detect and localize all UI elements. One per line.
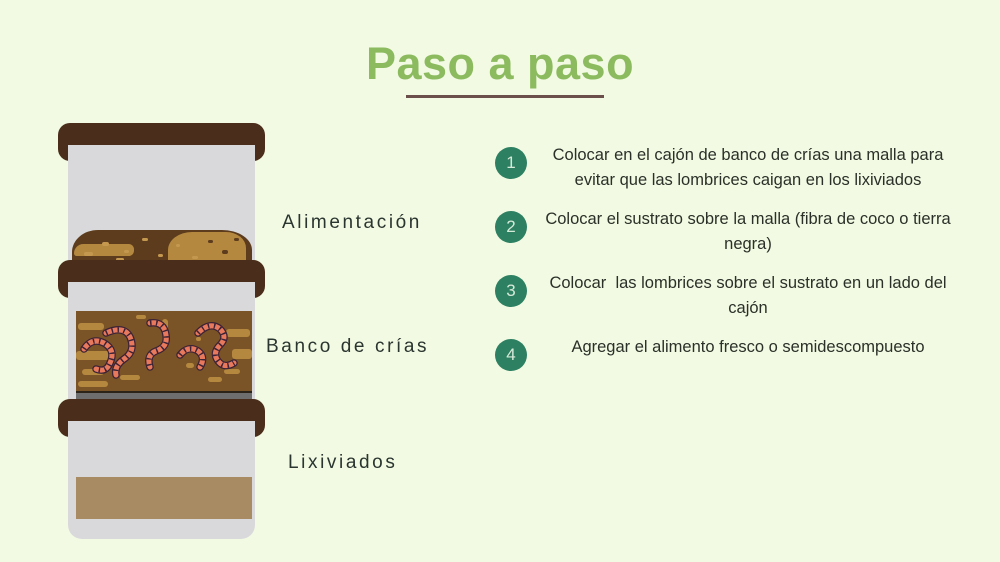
step-number-badge: 1 — [495, 147, 527, 179]
layer-label-lixiviados: Lixiviados — [288, 452, 397, 474]
step-text: Agregar el alimento fresco o semidescomp… — [541, 335, 955, 360]
step-item: 2 Colocar el sustrato sobre la malla (fi… — [495, 207, 955, 257]
steps-list: 1 Colocar en el cajón de banco de crías … — [495, 143, 955, 385]
page-title: Paso a paso — [0, 38, 1000, 90]
step-text: Colocar el sustrato sobre la malla (fibr… — [541, 207, 955, 257]
step-number-badge: 2 — [495, 211, 527, 243]
infographic-canvas: Paso a paso — [0, 0, 1000, 562]
step-item: 4 Agregar el alimento fresco o semidesco… — [495, 335, 955, 371]
layer-label-banco-de-crias: Banco de crías — [266, 336, 429, 358]
step-number-badge: 4 — [495, 339, 527, 371]
layer-label-alimentacion: Alimentación — [282, 212, 422, 234]
step-text: Colocar en el cajón de banco de crías un… — [541, 143, 955, 193]
leachate-liquid — [76, 477, 252, 519]
title-underline — [406, 95, 604, 98]
step-text: Colocar las lombrices sobre el sustrato … — [541, 271, 955, 321]
step-item: 3 Colocar las lombrices sobre el sustrat… — [495, 271, 955, 321]
soil-bed — [76, 311, 252, 391]
worms-group — [76, 311, 252, 391]
composter-diagram — [50, 112, 280, 542]
step-number-badge: 3 — [495, 275, 527, 307]
step-item: 1 Colocar en el cajón de banco de crías … — [495, 143, 955, 193]
